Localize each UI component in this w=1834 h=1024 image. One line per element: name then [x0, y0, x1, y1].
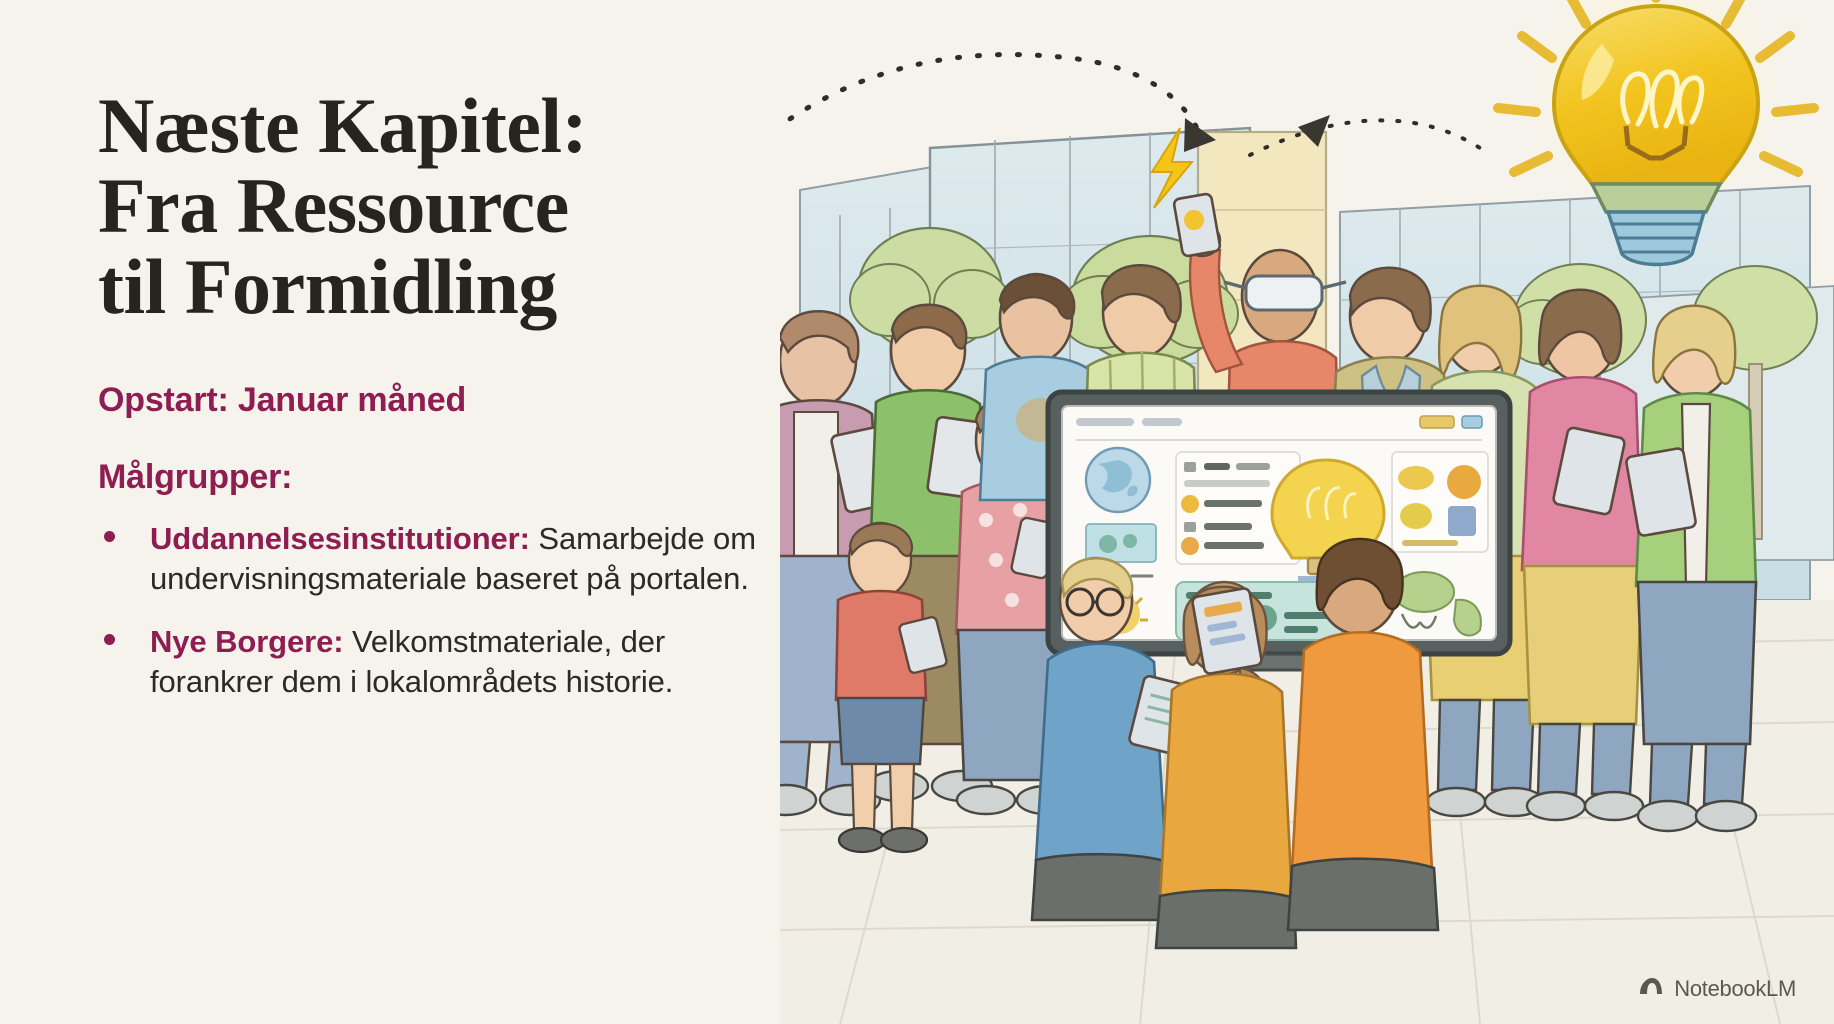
vr-headset: [1246, 276, 1322, 310]
bullet-lead: Uddannelsesinstitutioner:: [150, 521, 530, 556]
list-item: Nye Borgere: Velkomstmateriale, der fora…: [98, 622, 758, 703]
bullet-lead: Nye Borgere:: [150, 624, 343, 659]
notebooklm-watermark: NotebookLM: [1638, 975, 1796, 1002]
bullet-list: Uddannelsesinstitutioner: Samarbejde om …: [98, 519, 758, 702]
bullet-dot-icon: [104, 634, 115, 645]
illustration: [780, 0, 1834, 1024]
watermark-label: NotebookLM: [1674, 976, 1796, 1002]
subheading-start-date: Opstart: Januar måned: [98, 381, 758, 420]
list-item: Uddannelsesinstitutioner: Samarbejde om …: [98, 519, 758, 600]
text-panel: Næste Kapitel: Fra Ressource til Formidl…: [98, 86, 758, 724]
section-heading-target-groups: Målgrupper:: [98, 458, 758, 497]
globe-icon: [1086, 448, 1150, 512]
notebooklm-logo-icon: [1638, 975, 1664, 1002]
illustration-canvas: [780, 0, 1834, 1024]
bullet-dot-icon: [104, 531, 115, 542]
slide-root: Næste Kapitel: Fra Ressource til Formidl…: [0, 0, 1834, 1024]
seated-children-group: [1032, 539, 1438, 948]
page-title: Næste Kapitel: Fra Ressource til Formidl…: [98, 86, 758, 327]
